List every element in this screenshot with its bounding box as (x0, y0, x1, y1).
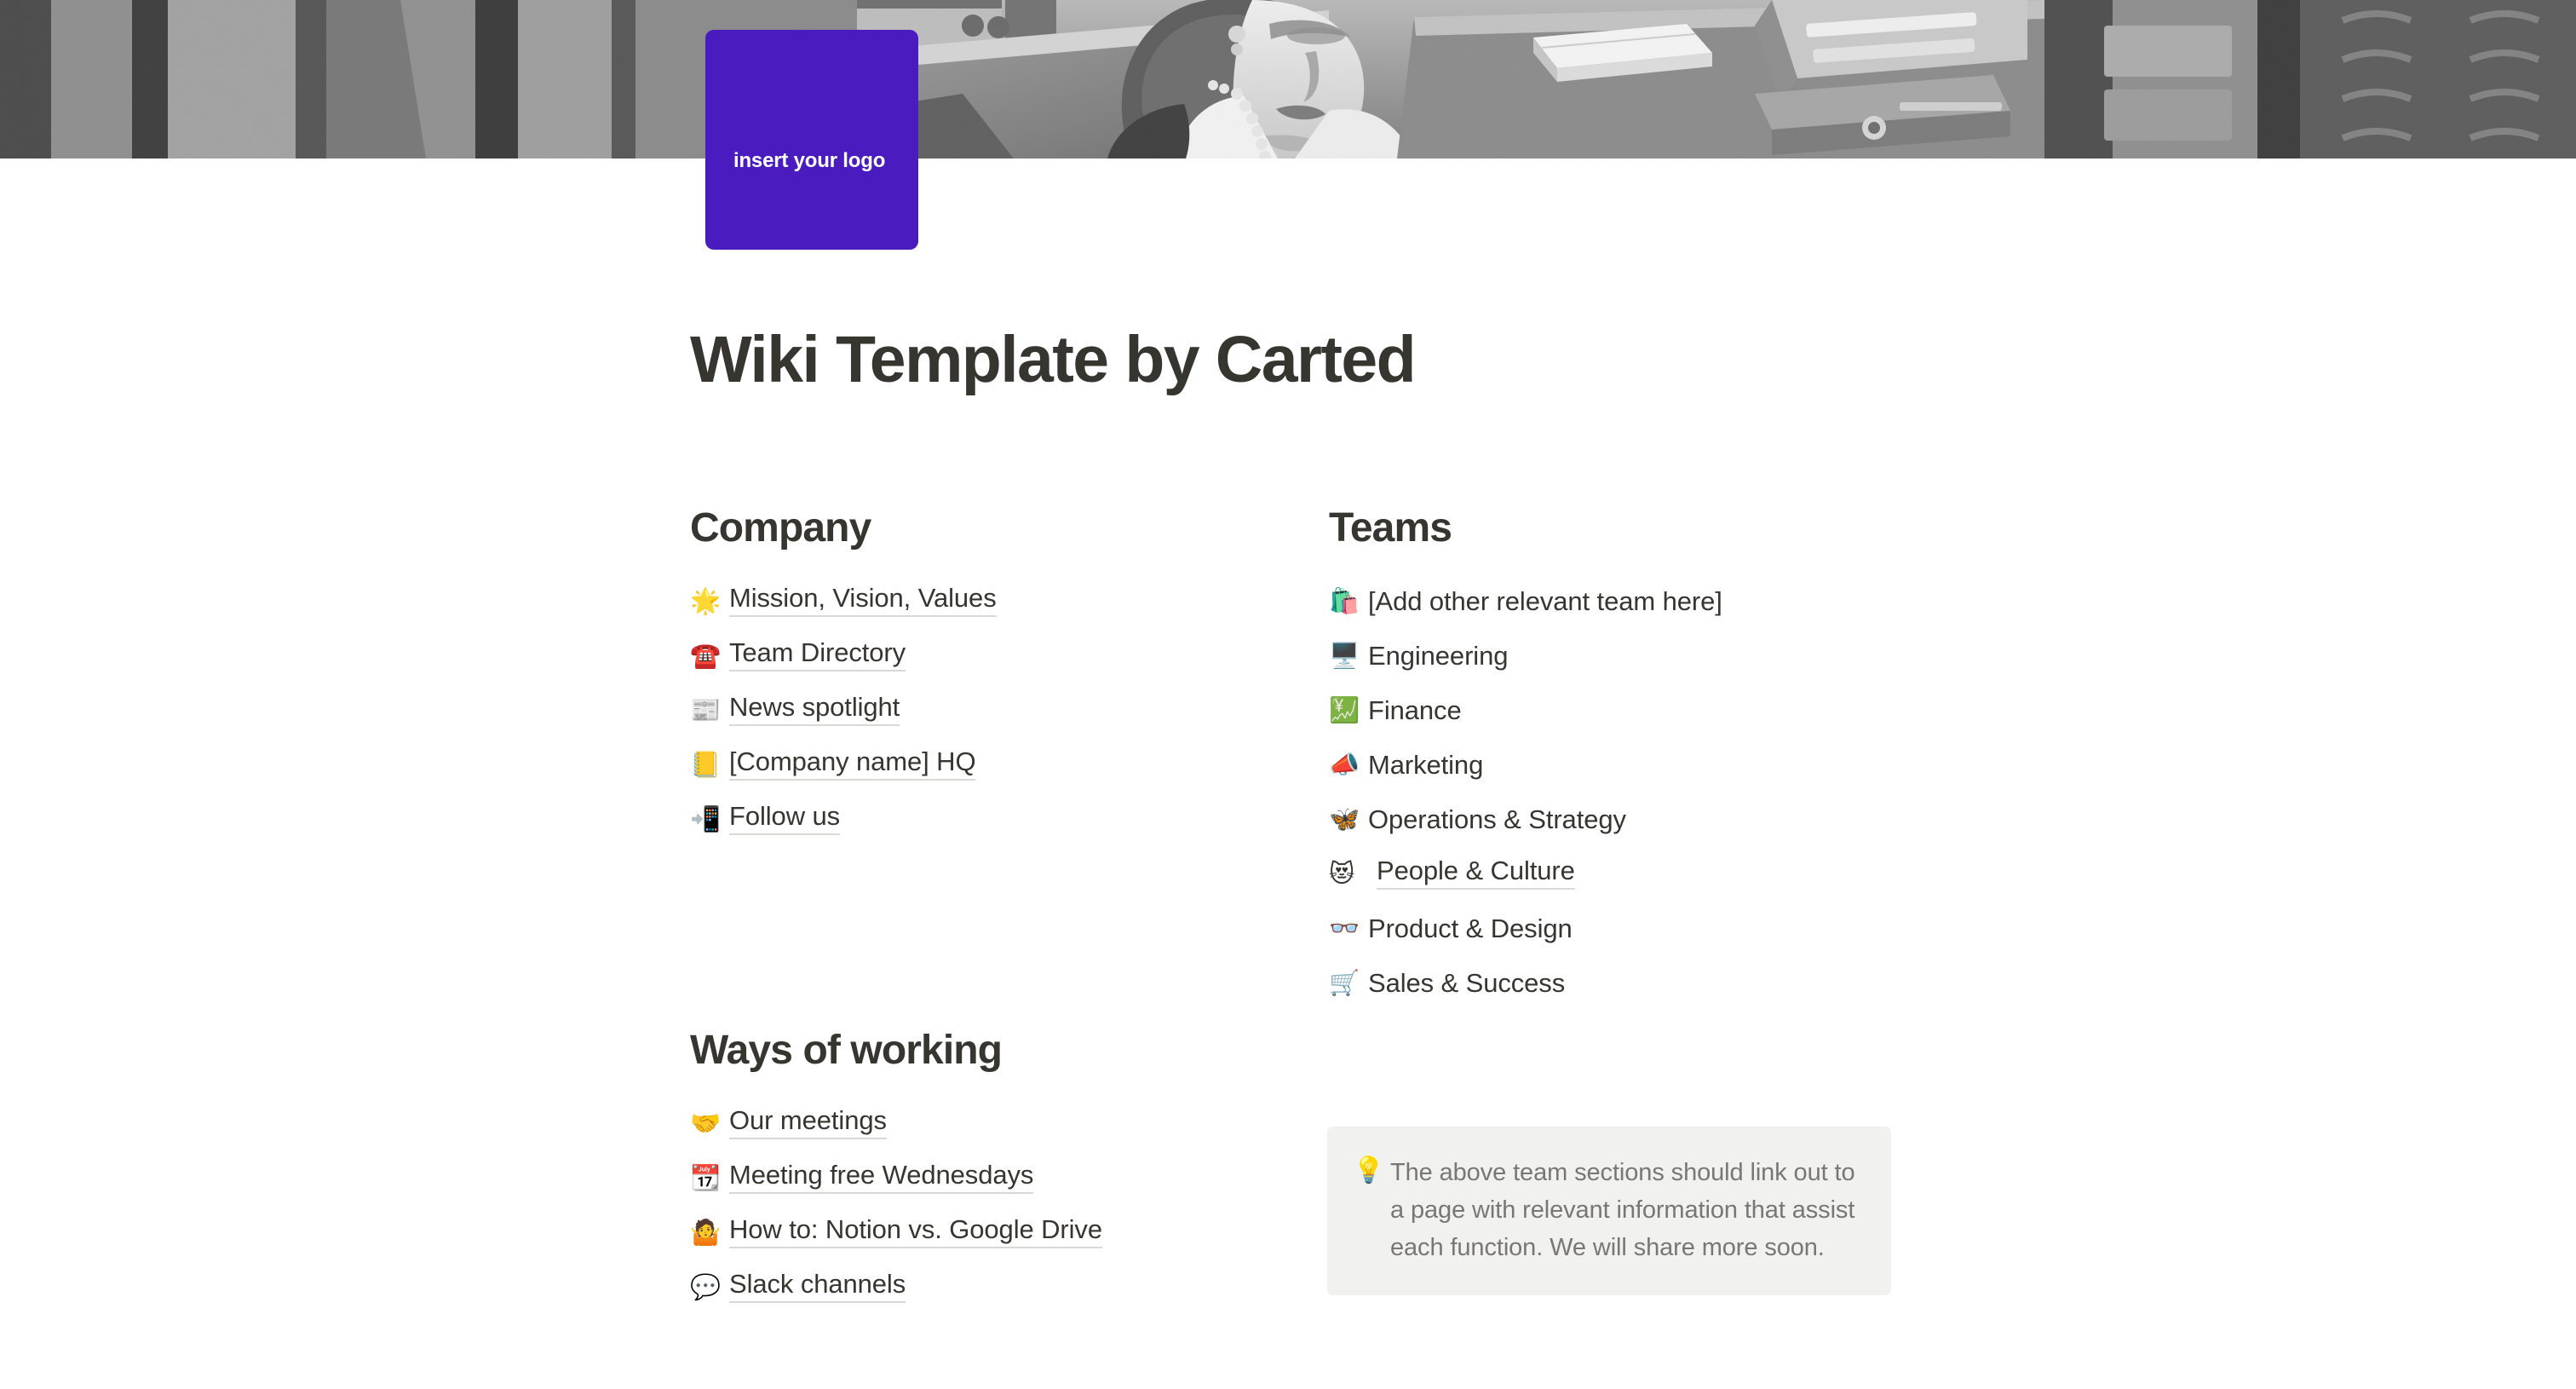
logo-text: insert your logo (733, 149, 885, 174)
logo-placeholder[interactable]: insert your logo (705, 30, 918, 250)
light-bulb-icon: 💡 (1353, 1154, 1390, 1189)
newspaper-icon: 📰 (690, 698, 719, 723)
list-item-label: Operations & Strategy (1368, 806, 1626, 833)
tear-off-calendar-icon: 📆 (690, 1166, 719, 1190)
list-item-label: Finance (1368, 697, 1462, 723)
list-item[interactable]: 🤝 Our meetings (690, 1096, 1286, 1150)
list-item-label: [Add other relevant team here] (1368, 588, 1722, 614)
list-item[interactable]: 🛒 Sales & Success (1329, 955, 1925, 1010)
page-content: Wiki Template by Carted Company 🌟 Missio… (0, 0, 2576, 1389)
list-item[interactable]: ☎️ Team Directory (690, 628, 1286, 683)
list-item[interactable]: 👓 Product & Design (1329, 901, 1925, 955)
list-item[interactable]: 📆 Meeting free Wednesdays (690, 1150, 1286, 1205)
section-heading-ways-of-working[interactable]: Ways of working (690, 1027, 1286, 1074)
list-item-label: Mission, Vision, Values (729, 585, 997, 617)
shopping-cart-icon: 🛒 (1329, 971, 1358, 995)
glowing-star-icon: 🌟 (690, 589, 719, 614)
list-item[interactable]: 💬 Slack channels (690, 1259, 1286, 1314)
list-item-label: Product & Design (1368, 915, 1573, 942)
ledger-icon: 📒 (690, 752, 719, 777)
list-item-label: [Company name] HQ (729, 748, 975, 781)
section-heading-company[interactable]: Company (690, 504, 1286, 551)
list-item[interactable]: 📰 News spotlight (690, 683, 1286, 737)
list-item[interactable]: 🛍️ [Add other relevant team here] (1329, 573, 1925, 628)
section-heading-teams[interactable]: Teams (1329, 504, 1925, 551)
speech-balloon-icon: 💬 (690, 1275, 719, 1300)
list-item[interactable]: 📒 [Company name] HQ (690, 737, 1286, 792)
list-item-label: Follow us (729, 803, 840, 835)
handshake-icon: 🤝 (690, 1111, 719, 1136)
page-title[interactable]: Wiki Template by Carted (690, 324, 1415, 396)
telephone-icon: ☎️ (690, 643, 719, 668)
list-item-label: How to: Notion vs. Google Drive (729, 1216, 1102, 1248)
section-teams: Teams 🛍️ [Add other relevant team here] … (1329, 504, 1925, 1010)
chart-increasing-with-yen-icon: 💹 (1329, 698, 1358, 723)
section-company: Company 🌟 Mission, Vision, Values ☎️ Tea… (690, 504, 1286, 846)
desktop-computer-icon: 🖥️ (1329, 643, 1358, 668)
ways-of-working-link-list: 🤝 Our meetings 📆 Meeting free Wednesdays… (690, 1096, 1286, 1314)
shopping-bags-icon: 🛍️ (1329, 589, 1358, 614)
list-item[interactable]: 📣 Marketing (1329, 737, 1925, 792)
list-item-label: Engineering (1368, 643, 1508, 669)
callout-text: The above team sections should link out … (1390, 1154, 1860, 1266)
list-item[interactable]: 🖥️ Engineering (1329, 628, 1925, 683)
list-item-label: Team Directory (729, 639, 906, 671)
list-item[interactable]: 🌟 Mission, Vision, Values (690, 573, 1286, 628)
smiling-cat-with-heart-eyes-icon: 😻 (1329, 862, 1358, 886)
mobile-phone-with-arrow-icon: 📲 (690, 807, 719, 832)
eyeglasses-icon: 👓 (1329, 916, 1358, 941)
list-item[interactable]: 🤷 How to: Notion vs. Google Drive (690, 1205, 1286, 1259)
list-item-label: People & Culture (1377, 857, 1575, 890)
section-ways-of-working: Ways of working 🤝 Our meetings 📆 Meeting… (690, 1027, 1286, 1314)
callout-block[interactable]: 💡 The above team sections should link ou… (1327, 1127, 1891, 1295)
list-item-label: Marketing (1368, 752, 1483, 778)
list-item-label: Meeting free Wednesdays (729, 1161, 1033, 1194)
list-item[interactable]: 📲 Follow us (690, 792, 1286, 846)
person-shrugging-icon: 🤷 (690, 1220, 719, 1245)
list-item-label: Our meetings (729, 1107, 887, 1139)
list-item-label: Sales & Success (1368, 970, 1565, 996)
company-link-list: 🌟 Mission, Vision, Values ☎️ Team Direct… (690, 573, 1286, 846)
list-item-label: Slack channels (729, 1271, 906, 1303)
list-item-label: News spotlight (729, 694, 900, 726)
list-item[interactable]: 😻 People & Culture (1329, 846, 1925, 901)
butterfly-icon: 🦋 (1329, 807, 1358, 832)
list-item[interactable]: 🦋 Operations & Strategy (1329, 792, 1925, 846)
teams-link-list: 🛍️ [Add other relevant team here] 🖥️ Eng… (1329, 573, 1925, 1010)
megaphone-icon: 📣 (1329, 752, 1358, 777)
list-item[interactable]: 💹 Finance (1329, 683, 1925, 737)
